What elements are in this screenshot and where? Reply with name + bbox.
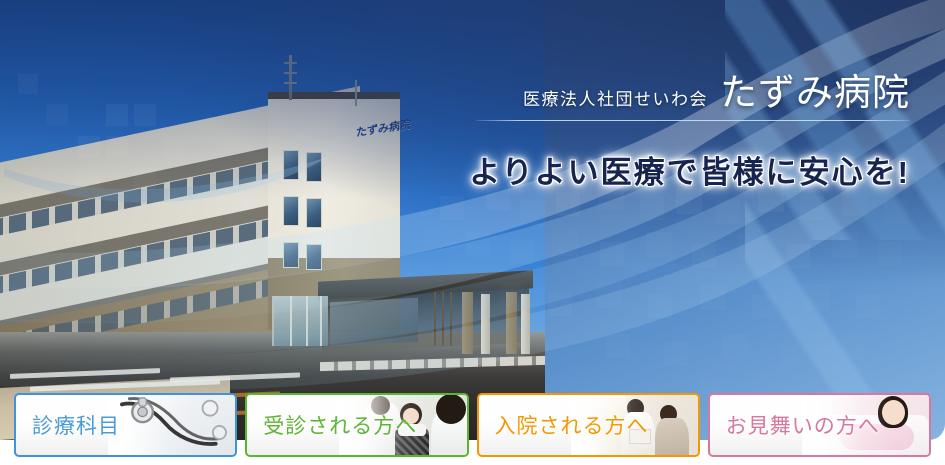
nav-label-departments: 診療科目	[16, 410, 120, 440]
stethoscope-icon	[108, 395, 235, 455]
doctor-coat	[431, 408, 469, 457]
hospital-name: たずみ病院	[720, 74, 910, 111]
nav-button-departments[interactable]: 診療科目	[14, 393, 237, 457]
nav-button-outpatient[interactable]: 受診される方へ	[245, 393, 468, 457]
page-root: たずみ病院	[0, 0, 945, 465]
sky-gradient-overlay	[0, 0, 945, 440]
nav-label-outpatient: 受診される方へ	[247, 410, 417, 440]
child-face	[882, 400, 905, 425]
hero-banner: たずみ病院	[0, 0, 945, 440]
nav-label-visitors: お見舞いの方へ	[710, 410, 880, 440]
quick-nav-row: 診療科目 受診される方へ	[14, 393, 931, 457]
doctor-head	[436, 394, 466, 424]
nav-label-inpatient: 入院される方へ	[479, 410, 649, 440]
hero-text-block: 医療法人社団せいわ会 たずみ病院 よりよい医療で皆様に安心を!	[440, 74, 910, 192]
hero-tagline: よりよい医療で皆様に安心を!	[440, 147, 910, 192]
organization-name: 医療法人社団せいわ会	[523, 85, 708, 110]
hospital-title-line: 医療法人社団せいわ会 たずみ病院	[440, 74, 910, 111]
child-hair	[878, 396, 908, 428]
stethoscope-glyph	[101, 395, 231, 455]
nav-button-inpatient[interactable]: 入院される方へ	[477, 393, 700, 457]
visitor-body	[655, 418, 689, 457]
visitor-head	[660, 405, 677, 423]
nav-button-visitors[interactable]: お見舞いの方へ	[708, 393, 931, 457]
title-underline-rule	[476, 120, 910, 121]
